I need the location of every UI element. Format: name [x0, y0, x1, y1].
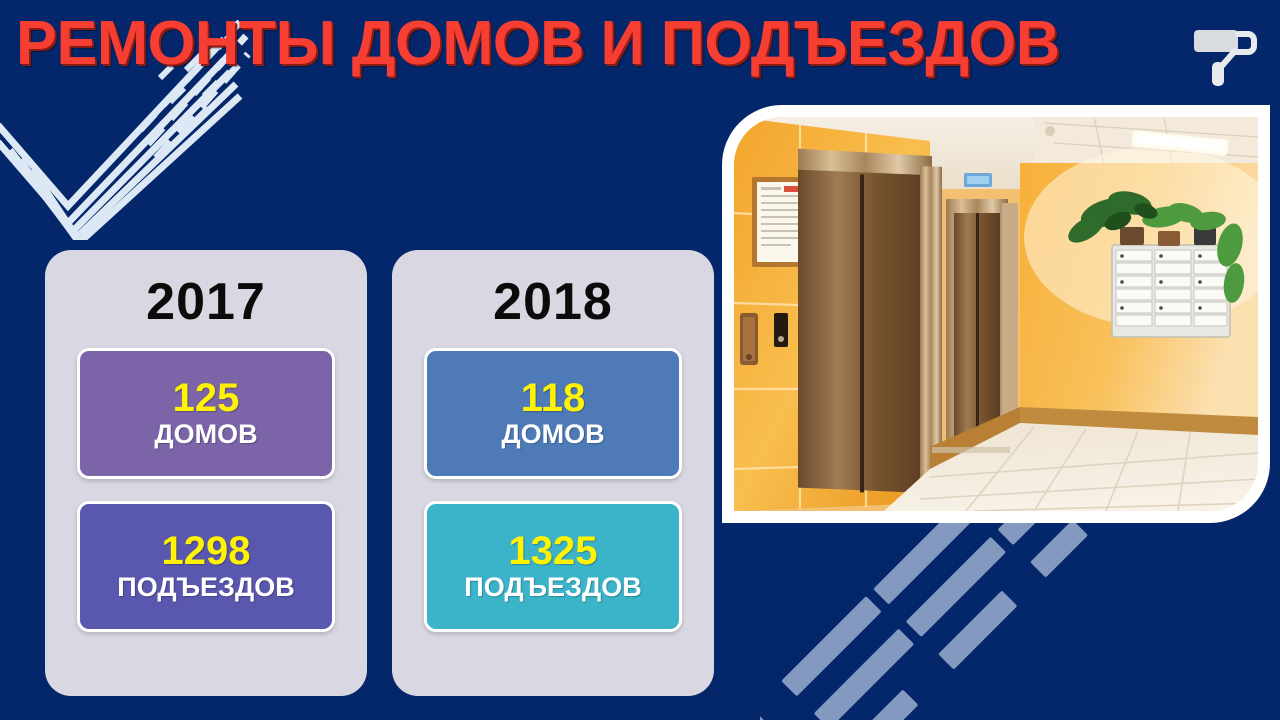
paint-roller-icon: [1190, 18, 1270, 90]
stat-box-2017-entrances[interactable]: 1298 ПОДЪЕЗДОВ: [77, 501, 335, 632]
stat-box-2017-houses[interactable]: 125 ДОМОВ: [77, 348, 335, 479]
stat-box-2018-entrances[interactable]: 1325 ПОДЪЕЗДОВ: [424, 501, 682, 632]
diagonal-stripes-decoration: [760, 490, 1280, 720]
page-title: РЕМОНТЫ ДОМОВ И ПОДЪЕЗДОВ: [16, 8, 1060, 79]
year-label: 2017: [146, 276, 266, 328]
stat-value: 125: [173, 378, 240, 418]
stat-label: ДОМОВ: [154, 420, 257, 450]
year-card-2017: 2017 125 ДОМОВ 1298 ПОДЪЕЗДОВ: [45, 250, 367, 696]
stat-label: ПОДЪЕЗДОВ: [117, 573, 294, 603]
stat-value: 1298: [162, 531, 251, 571]
stat-label: ДОМОВ: [501, 420, 604, 450]
year-card-2018: 2018 118 ДОМОВ 1325 ПОДЪЕЗДОВ: [392, 250, 714, 696]
stat-value: 1325: [509, 531, 598, 571]
photo-frame: [722, 105, 1270, 523]
stat-value: 118: [521, 378, 586, 418]
stat-label: ПОДЪЕЗДОВ: [464, 573, 641, 603]
lobby-photo: [734, 117, 1258, 511]
stat-box-2018-houses[interactable]: 118 ДОМОВ: [424, 348, 682, 479]
year-label: 2018: [493, 276, 613, 328]
